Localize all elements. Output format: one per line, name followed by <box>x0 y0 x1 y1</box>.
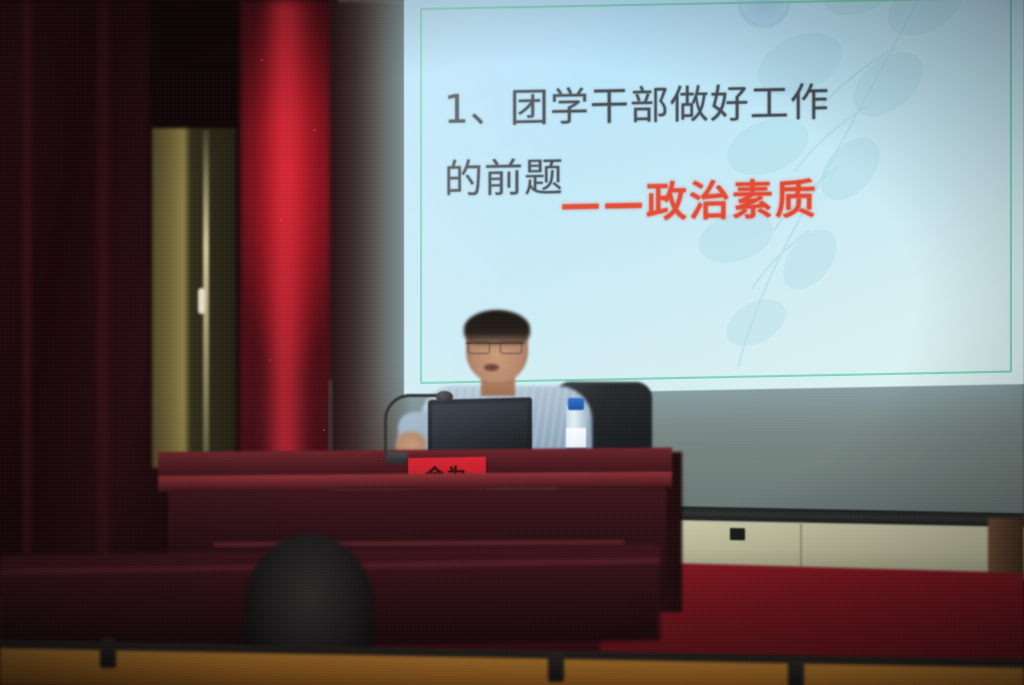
lecture-hall-photo: 1、团学干部做好工作 的前题 ——政治素质 余为 <box>0 0 1024 685</box>
bench-post <box>548 652 564 682</box>
bottle-cap <box>568 398 584 410</box>
presenter-mouth <box>484 364 499 371</box>
bench-post <box>100 638 116 668</box>
wall-outlet <box>730 528 745 540</box>
curtain-fold <box>96 0 110 555</box>
glasses-bridge <box>466 342 524 353</box>
slide-title-line-1: 1、团学干部做好工作 <box>444 66 984 146</box>
wall-panel-seam <box>800 522 802 570</box>
microphone-arm <box>384 394 443 459</box>
curtain-fold <box>22 0 32 555</box>
wooden-door <box>152 128 236 468</box>
bench-post <box>788 660 804 685</box>
wall-wood-trim <box>988 518 1024 577</box>
microphone-head <box>436 391 453 403</box>
slide-subtitle: ——政治素质 <box>560 170 980 230</box>
door-handle <box>198 288 205 314</box>
